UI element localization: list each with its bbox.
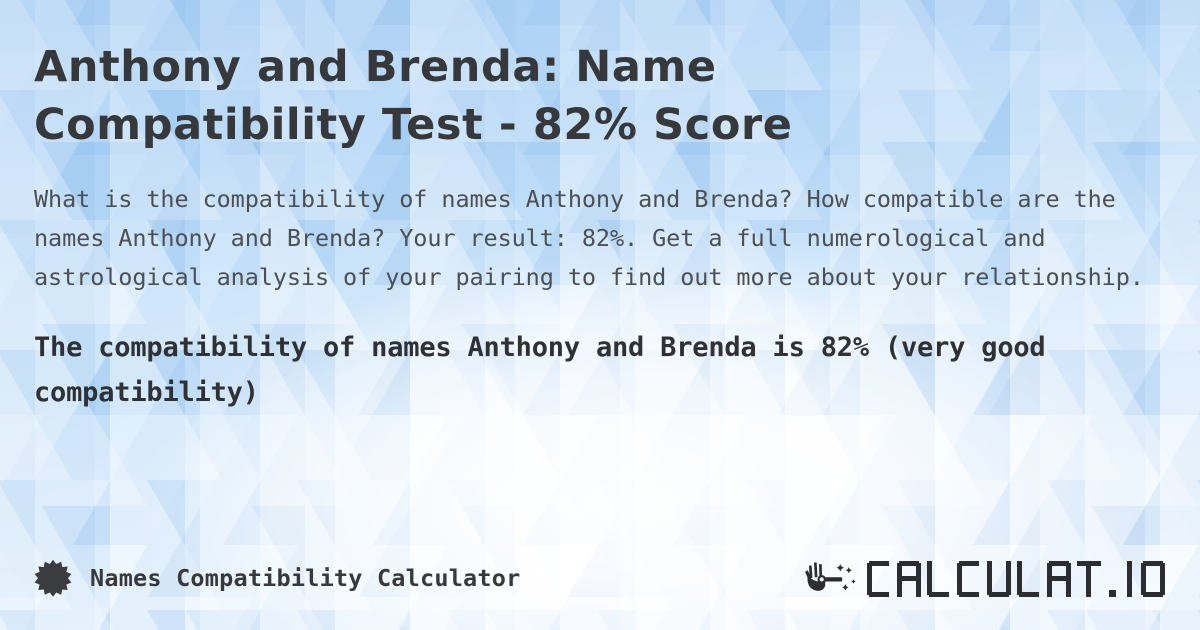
- compatibility-result-text: The compatibility of names Anthony and B…: [34, 325, 1154, 415]
- content-area: Anthony and Brenda: Name Compatibility T…: [0, 0, 1200, 630]
- footer: Names Compatibility Calculator: [0, 550, 1200, 606]
- logo-letter-a2: [1046, 560, 1072, 598]
- logo-letter-o: [1140, 560, 1166, 598]
- logo-letter-u: [986, 560, 1012, 598]
- logo-letter-c2: [956, 560, 982, 598]
- page-title: Anthony and Brenda: Name Compatibility T…: [34, 38, 794, 154]
- hand-magic-wand-icon: [802, 558, 860, 598]
- logo-letter-l: [926, 560, 952, 598]
- logo-letter-dot: [1106, 560, 1119, 598]
- social-preview-card: Anthony and Brenda: Name Compatibility T…: [0, 0, 1200, 630]
- brand-name-label: Names Compatibility Calculator: [90, 564, 520, 592]
- logo-letter-l2: [1016, 560, 1042, 598]
- brand-block: Names Compatibility Calculator: [34, 559, 520, 597]
- calculatio-logo[interactable]: [802, 558, 1166, 598]
- logo-letter-i: [1123, 560, 1136, 598]
- logo-letter-t: [1076, 560, 1102, 598]
- logo-wordmark: [866, 558, 1166, 598]
- starburst-icon: [34, 559, 72, 597]
- logo-letter-c: [866, 560, 892, 598]
- logo-letter-a: [896, 560, 922, 598]
- page-description: What is the compatibility of names Antho…: [34, 180, 1166, 297]
